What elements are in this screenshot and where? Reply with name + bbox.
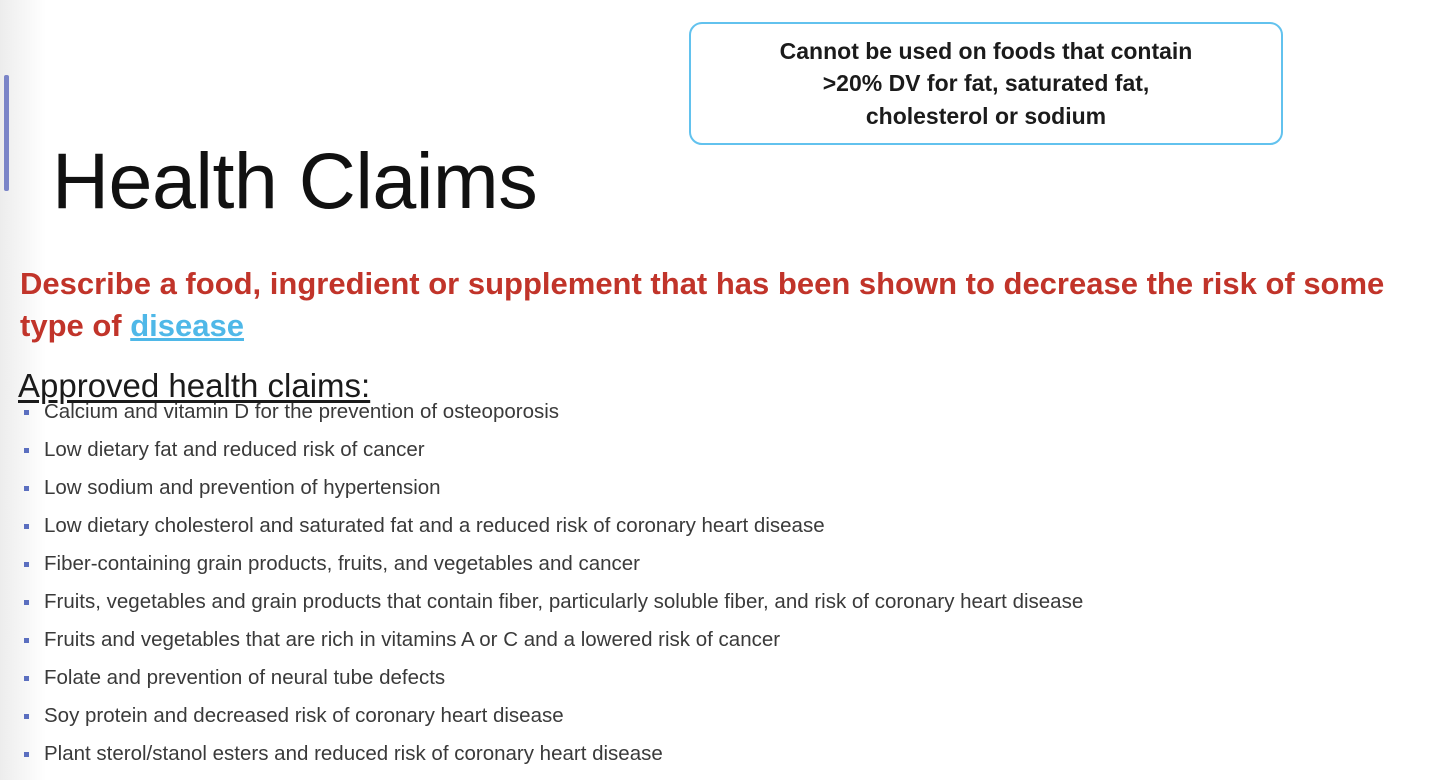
list-item-label: Low dietary fat and reduced risk of canc… bbox=[44, 438, 425, 461]
list-item: Plant sterol/stanol esters and reduced r… bbox=[22, 735, 1432, 773]
title-accent-bar bbox=[4, 75, 9, 191]
list-item: Folate and prevention of neural tube def… bbox=[22, 659, 1432, 697]
square-bullet-icon bbox=[24, 448, 29, 453]
callout-line-3: cholesterol or sodium bbox=[866, 100, 1106, 133]
list-item-label: Fruits and vegetables that are rich in v… bbox=[44, 628, 780, 651]
square-bullet-icon bbox=[24, 600, 29, 605]
lead-statement: Describe a food, ingredient or supplemen… bbox=[20, 263, 1430, 347]
list-item-label: Fruits, vegetables and grain products th… bbox=[44, 590, 1083, 613]
callout-line-1: Cannot be used on foods that contain bbox=[780, 35, 1193, 68]
square-bullet-icon bbox=[24, 752, 29, 757]
approved-claims-list: Calcium and vitamin D for the prevention… bbox=[22, 393, 1432, 773]
list-item-label: Plant sterol/stanol esters and reduced r… bbox=[44, 742, 663, 765]
square-bullet-icon bbox=[24, 638, 29, 643]
list-item-label: Soy protein and decreased risk of corona… bbox=[44, 704, 564, 727]
square-bullet-icon bbox=[24, 486, 29, 491]
list-item: Low dietary fat and reduced risk of canc… bbox=[22, 431, 1432, 469]
list-item: Low sodium and prevention of hypertensio… bbox=[22, 469, 1432, 507]
list-item-label: Fiber-containing grain products, fruits,… bbox=[44, 552, 640, 575]
callout-box: Cannot be used on foods that contain >20… bbox=[689, 22, 1283, 145]
callout-line-2: >20% DV for fat, saturated fat, bbox=[823, 67, 1150, 100]
square-bullet-icon bbox=[24, 524, 29, 529]
square-bullet-icon bbox=[24, 410, 29, 415]
square-bullet-icon bbox=[24, 562, 29, 567]
list-item-label: Low sodium and prevention of hypertensio… bbox=[44, 476, 441, 499]
list-item: Fiber-containing grain products, fruits,… bbox=[22, 545, 1432, 583]
list-item: Fruits and vegetables that are rich in v… bbox=[22, 621, 1432, 659]
list-item: Calcium and vitamin D for the prevention… bbox=[22, 393, 1432, 431]
square-bullet-icon bbox=[24, 676, 29, 681]
square-bullet-icon bbox=[24, 714, 29, 719]
list-item: Soy protein and decreased risk of corona… bbox=[22, 697, 1432, 735]
list-item: Low dietary cholesterol and saturated fa… bbox=[22, 507, 1432, 545]
list-item-label: Calcium and vitamin D for the prevention… bbox=[44, 400, 559, 423]
list-item-label: Low dietary cholesterol and saturated fa… bbox=[44, 514, 825, 537]
list-item-label: Folate and prevention of neural tube def… bbox=[44, 666, 445, 689]
disease-link[interactable]: disease bbox=[130, 308, 244, 343]
page-title: Health Claims bbox=[52, 141, 537, 220]
list-item: Fruits, vegetables and grain products th… bbox=[22, 583, 1432, 621]
slide-canvas: Health Claims Cannot be used on foods th… bbox=[0, 0, 1440, 780]
